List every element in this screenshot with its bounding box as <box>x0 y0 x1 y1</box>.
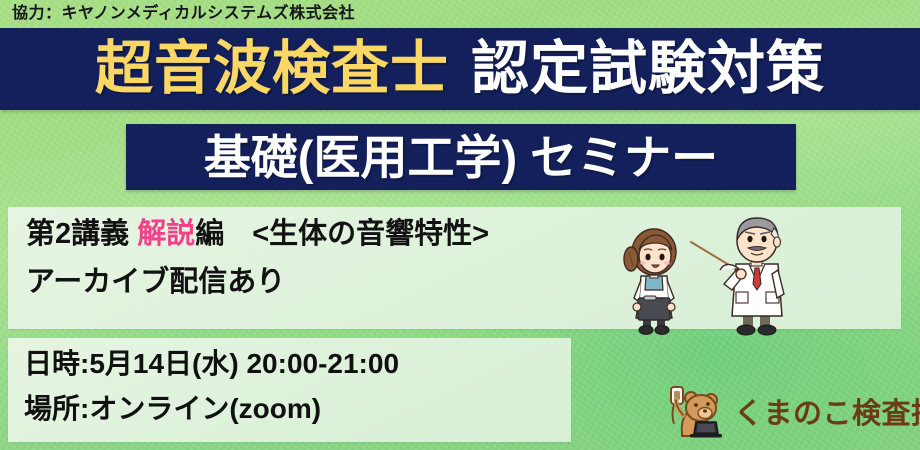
brand-name: くまのこ検査技師塾 <box>734 400 920 429</box>
seminar-poster: 協力：キヤノンメディカルシステムズ株式会社 超音波検査士 認定試験対策 基礎(医… <box>0 0 920 450</box>
lecture-topic: <生体の音響特性> <box>252 218 489 250</box>
datetime-label: 日時: <box>24 348 89 379</box>
lecture-edition-label: 編 <box>195 218 224 250</box>
place-label: 場所: <box>24 393 89 424</box>
lecture-number-label: 第2講義 <box>26 218 129 250</box>
lecture-highlight-label: 解説 <box>137 218 195 250</box>
schedule-panel: 日時:5月14日(水) 20:00-21:00 場所:オンライン(zoom) <box>8 338 571 442</box>
place-line: 場所:オンライン(zoom) <box>24 392 321 426</box>
main-title-band: 超音波検査士 認定試験対策 <box>0 28 920 110</box>
datetime-line: 日時:5月14日(水) 20:00-21:00 <box>24 347 399 381</box>
main-title-white-part: 認定試験対策 <box>471 40 825 98</box>
lecture-headline: 第2講義 解説編<生体の音響特性> <box>26 217 489 252</box>
place-value: オンライン(zoom) <box>89 393 321 424</box>
sub-title: 基礎(医用工学) セミナー <box>204 134 718 181</box>
bear-mascot-icon <box>660 382 726 447</box>
main-title-yellow-part: 超音波検査士 <box>95 40 449 98</box>
characters-illustration <box>608 212 808 340</box>
teacher-character <box>691 218 784 335</box>
student-character <box>624 229 676 335</box>
sub-title-band: 基礎(医用工学) セミナー <box>126 124 796 190</box>
brand-logo: くまのこ検査技師塾 <box>660 382 920 447</box>
archive-note: アーカイブ配信あり <box>26 265 285 300</box>
main-title: 超音波検査士 認定試験対策 <box>95 40 825 98</box>
datetime-value: 5月14日(水) 20:00-21:00 <box>89 348 399 379</box>
supporter-line: 協力：キヤノンメディカルシステムズ株式会社 <box>12 1 355 27</box>
